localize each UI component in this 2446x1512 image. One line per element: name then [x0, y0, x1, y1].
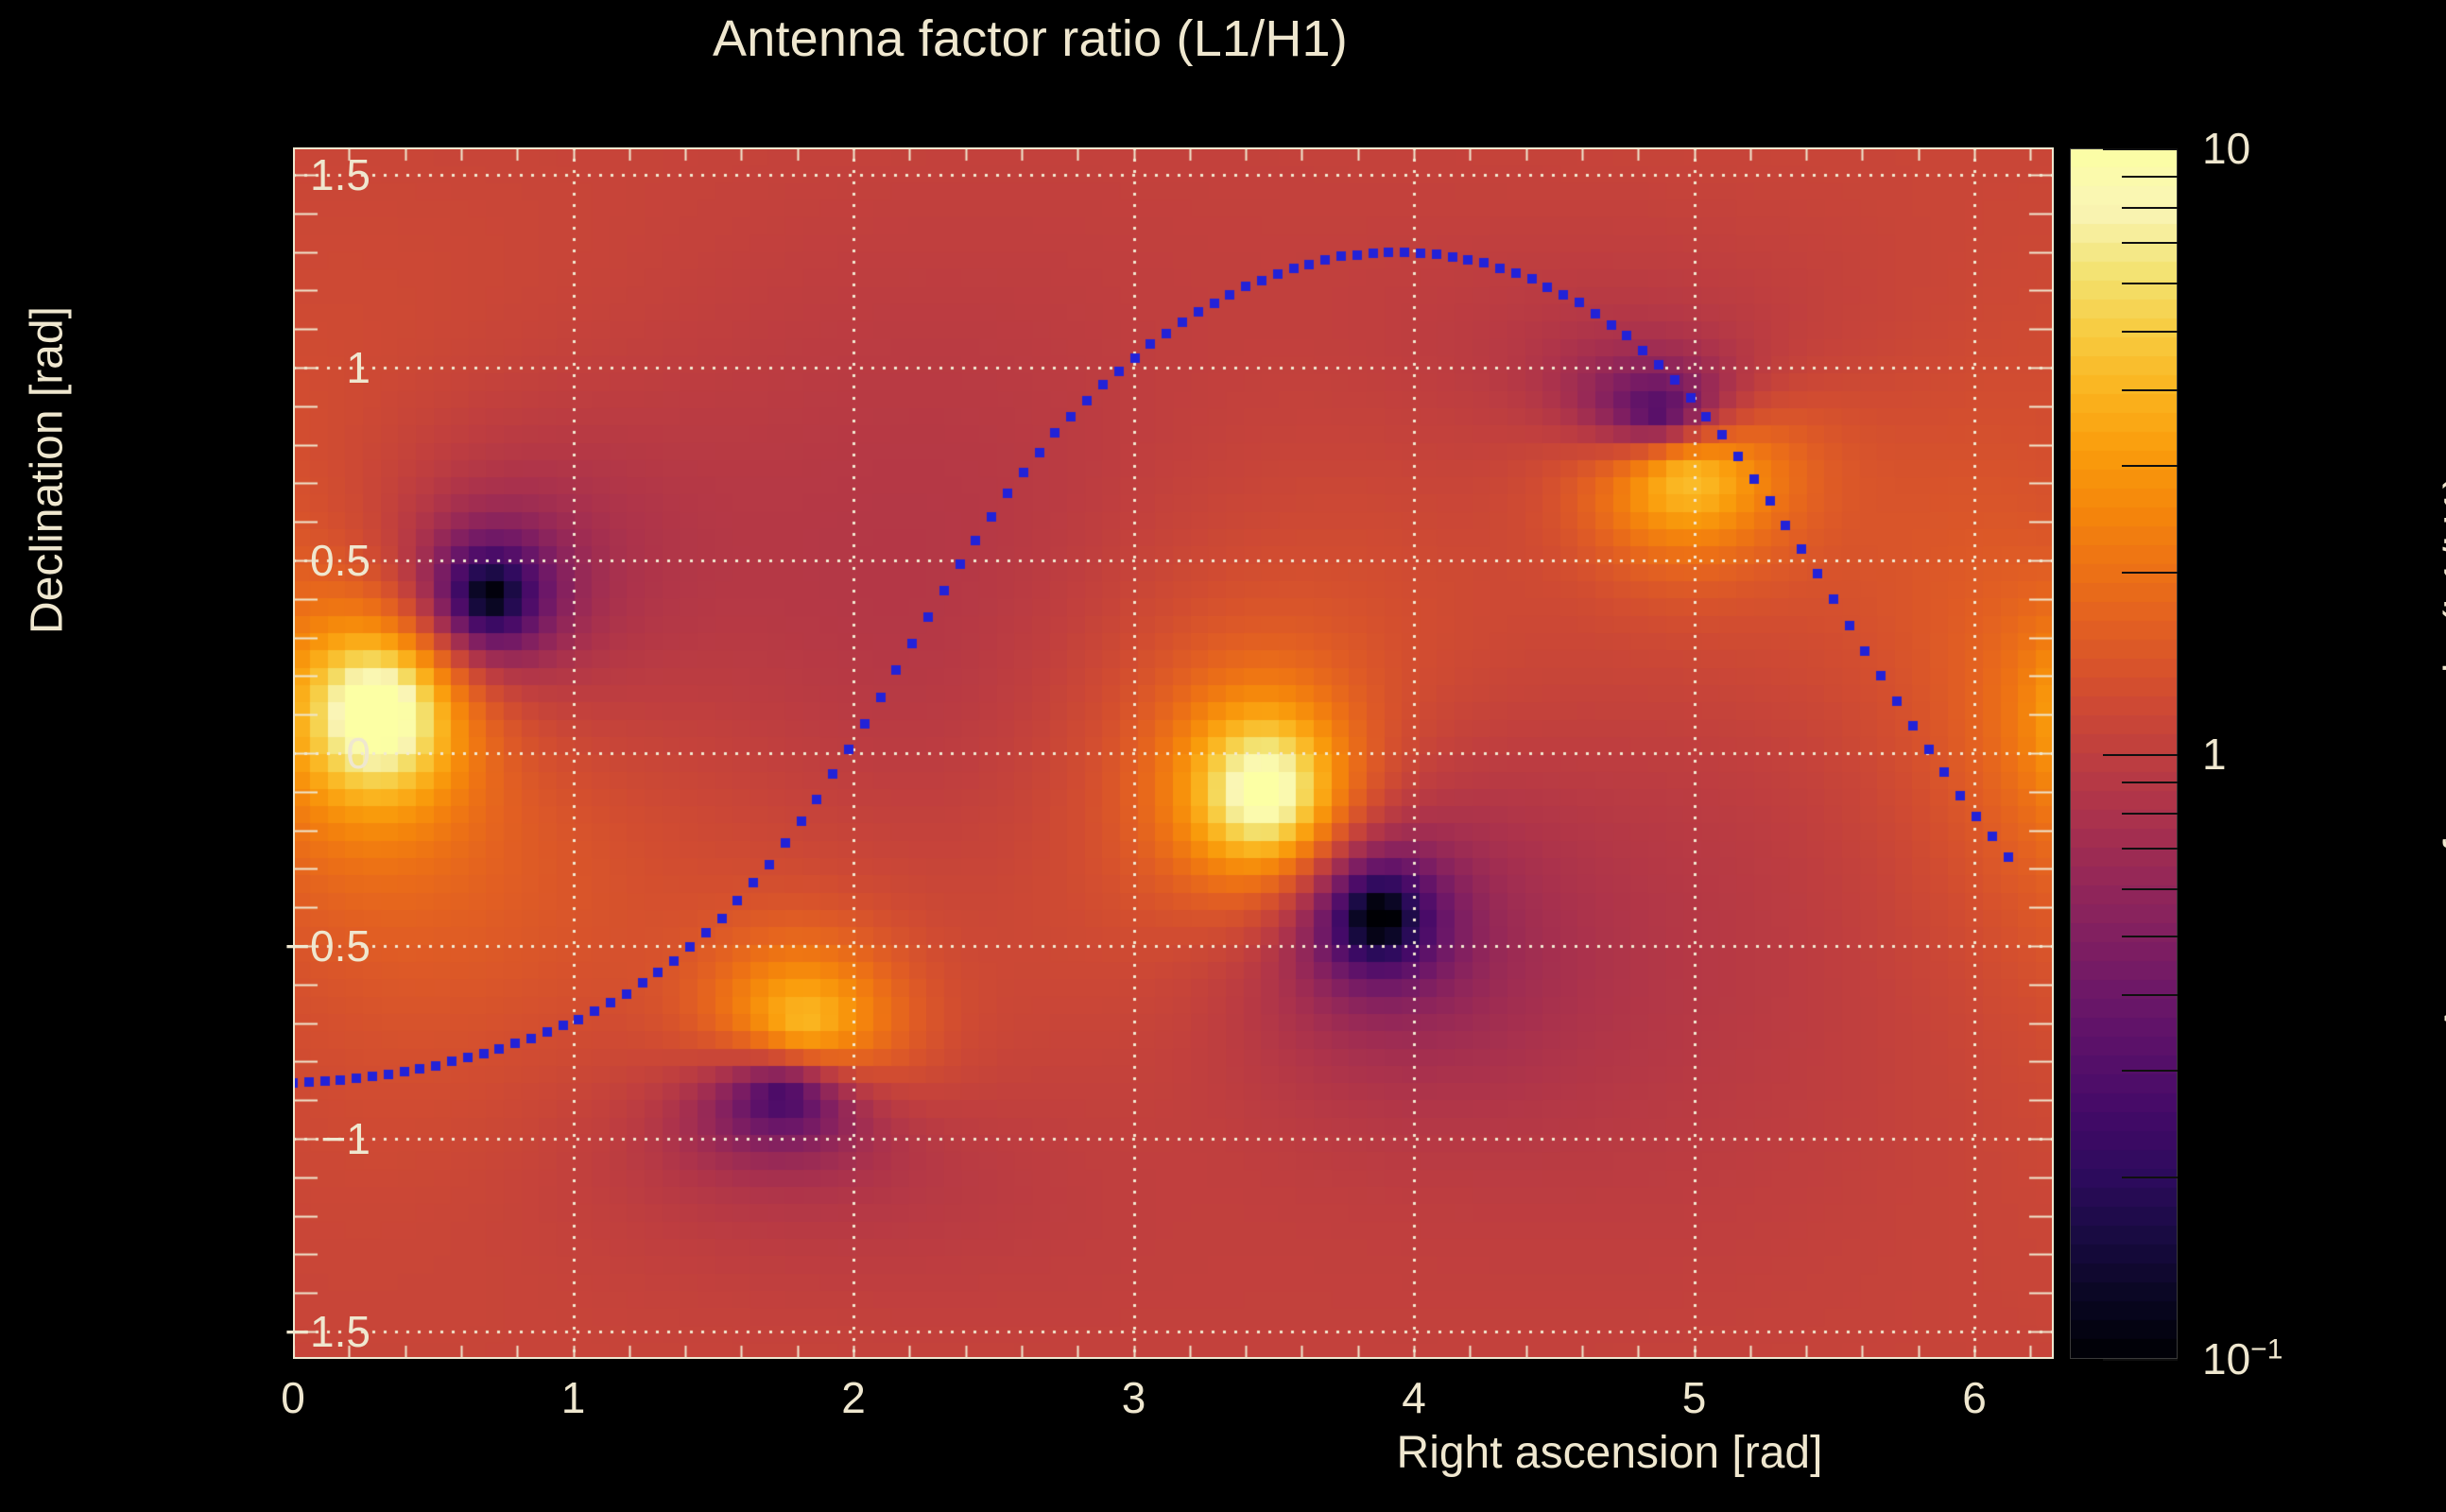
- x-tick-label: 1: [561, 1372, 586, 1423]
- x-tick-label: 5: [1682, 1372, 1707, 1423]
- colorbar-tick-label: 10−1: [2202, 1333, 2282, 1384]
- colorbar-tick-label: 1: [2202, 729, 2227, 780]
- x-tick-label: 0: [281, 1372, 305, 1423]
- y-tick-label: −1: [321, 1113, 370, 1164]
- colorbar-major-tick: [2103, 754, 2178, 756]
- y-tick-label: 0: [346, 728, 370, 779]
- x-tick-label: 2: [841, 1372, 866, 1423]
- x-tick-label: 6: [1962, 1372, 1987, 1423]
- colorbar-minor-tick: [2122, 331, 2178, 333]
- colorbar-minor-tick: [2122, 465, 2178, 467]
- y-tick-label: 1.5: [310, 149, 370, 200]
- y-tick-label: 0.5: [310, 535, 370, 586]
- colorbar-minor-tick: [2122, 572, 2178, 574]
- colorbar-major-tick: [2103, 1359, 2178, 1361]
- colorbar-minor-tick: [2122, 389, 2178, 391]
- colorbar-label: Antenna factor ratio (L1/H1): [2436, 282, 2446, 1227]
- colorbar-minor-tick: [2122, 242, 2178, 244]
- grid-and-overlay-layer: [293, 147, 2054, 1359]
- y-axis-label: Declination [rad]: [22, 168, 74, 773]
- colorbar-tick-label: 10: [2202, 123, 2250, 174]
- colorbar-minor-tick: [2122, 207, 2178, 209]
- colorbar-minor-tick: [2122, 283, 2178, 284]
- x-axis-label: Right ascension [rad]: [1165, 1427, 2054, 1479]
- figure-canvas: Antenna factor ratio (L1/H1) 1.510.50−0.…: [0, 0, 2446, 1512]
- x-tick-label: 3: [1122, 1372, 1146, 1423]
- chart-title: Antenna factor ratio (L1/H1): [0, 9, 2060, 68]
- colorbar-minor-tick: [2122, 176, 2178, 178]
- colorbar-minor-tick: [2122, 1070, 2178, 1072]
- colorbar-major-tick: [2103, 148, 2178, 150]
- colorbar-minor-tick: [2122, 994, 2178, 996]
- colorbar-minor-tick: [2122, 813, 2178, 815]
- colorbar-minor-tick: [2122, 1177, 2178, 1178]
- x-tick-label: 4: [1402, 1372, 1426, 1423]
- y-tick-label: 1: [346, 342, 370, 393]
- colorbar-minor-tick: [2122, 782, 2178, 783]
- plot-area[interactable]: [293, 147, 2054, 1359]
- y-tick-label: −1.5: [284, 1306, 370, 1357]
- y-tick-label: −0.5: [284, 920, 370, 971]
- colorbar-minor-tick: [2122, 936, 2178, 937]
- colorbar-minor-tick: [2122, 888, 2178, 890]
- colorbar-minor-tick: [2122, 848, 2178, 850]
